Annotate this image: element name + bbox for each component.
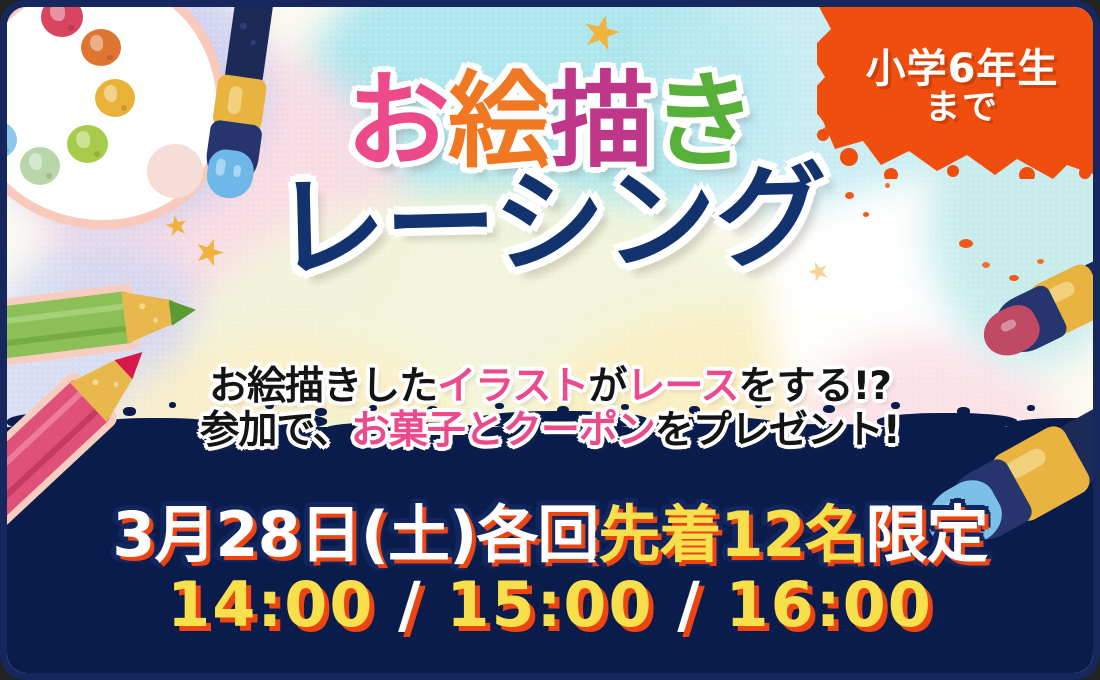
paint-blob-green bbox=[67, 125, 108, 163]
poster-root: ★ ★ ★ ★ bbox=[0, 0, 1100, 680]
paint-speck bbox=[94, 151, 100, 157]
paint-speck bbox=[68, 25, 74, 31]
splat-dot bbox=[959, 239, 973, 248]
paint-speck bbox=[107, 55, 113, 61]
splat-dot bbox=[885, 183, 890, 188]
splat-dot bbox=[1009, 275, 1019, 281]
paint-blob-yellow bbox=[95, 79, 135, 117]
paint-highlight bbox=[104, 85, 118, 102]
splat-dot bbox=[805, 159, 810, 163]
splat-dot bbox=[982, 262, 990, 268]
palette-icon bbox=[0, 0, 217, 220]
splat-dot bbox=[845, 192, 854, 199]
pencil-nib bbox=[169, 297, 198, 326]
age-limit-badge: 小学6年生 まで bbox=[817, 0, 1100, 179]
splat-dot bbox=[863, 212, 869, 217]
badge-text-group: 小学6年生 まで bbox=[817, 0, 1100, 179]
paint-speck bbox=[46, 173, 52, 179]
paint-speck bbox=[2, 147, 8, 153]
splat-dot bbox=[1037, 259, 1044, 264]
paint-blob-sage bbox=[20, 147, 60, 185]
paint-highlight bbox=[50, 3, 64, 21]
paint-speck bbox=[121, 105, 127, 111]
paint-highlight bbox=[76, 131, 90, 148]
badge-line2: まで bbox=[925, 91, 999, 126]
paint-blob-orange bbox=[81, 29, 121, 66]
paint-highlight bbox=[90, 35, 104, 51]
badge-line1: 小学6年生 bbox=[866, 49, 1059, 89]
paint-highlight bbox=[29, 153, 43, 170]
